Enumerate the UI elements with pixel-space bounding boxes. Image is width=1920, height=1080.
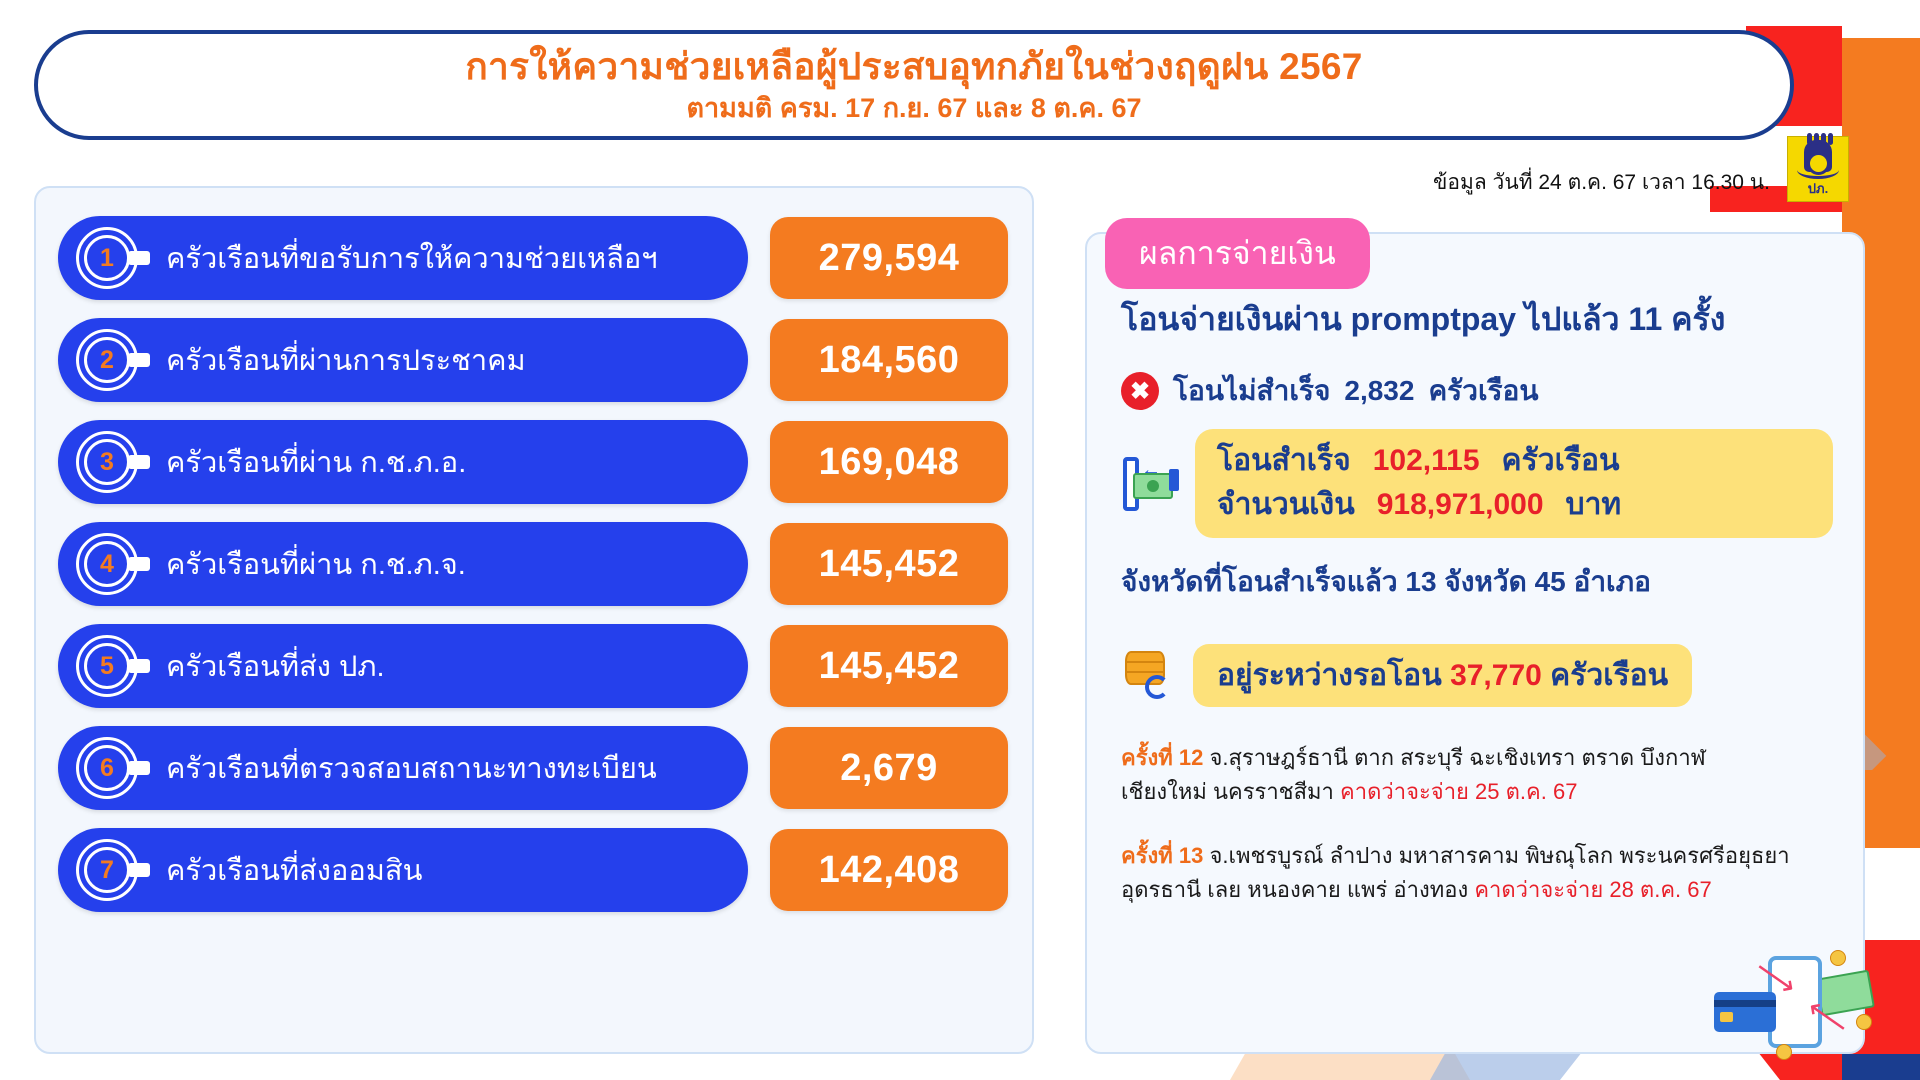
pending-value: 37,770: [1450, 659, 1542, 692]
transfer-failed-unit: ครัวเรือน: [1428, 369, 1538, 413]
row-text: ครัวเรือนที่ผ่าน ก.ช.ภ.จ.: [154, 541, 466, 587]
logo-finger: [1814, 133, 1819, 145]
step-number: 7: [84, 847, 130, 893]
step-number: 5: [84, 643, 130, 689]
promptpay-summary: โอนจ่ายเงินผ่าน promptpay ไปแล้ว 11 ครั้…: [1121, 294, 1833, 345]
table-row: 5 ครัวเรือนที่ส่ง ปภ. 145,452: [58, 622, 1010, 710]
row-value: 279,594: [770, 217, 1008, 299]
step-number-badge: 6: [76, 737, 140, 799]
logo-emblem: [1795, 139, 1841, 183]
badge-stub: [128, 251, 150, 265]
round-13-tag: ครั้งที่ 13: [1121, 843, 1203, 868]
badge-stub: [128, 353, 150, 367]
step-number-badge: 3: [76, 431, 140, 493]
round-12-tag: ครั้งที่ 12: [1121, 745, 1203, 770]
row-label-3: 3 ครัวเรือนที่ผ่าน ก.ช.ภ.อ.: [58, 420, 748, 504]
transfer-success-block: ← โอนสำเร็จ 102,115 ครัวเรือน จำนวนเงิน …: [1121, 429, 1833, 538]
cash-transfer-icon: ←: [1121, 455, 1183, 513]
logo-finger: [1821, 133, 1826, 145]
step-number: 6: [84, 745, 130, 791]
coin-icon: [1856, 1014, 1872, 1030]
badge-stub: [128, 659, 150, 673]
round-12-eta: คาดว่าจะจ่าย 25 ต.ค. 67: [1340, 779, 1577, 804]
logo-finger: [1807, 133, 1812, 145]
badge-stub: [128, 557, 150, 571]
round-13-line-2: อุดรธานี เลย หนองคาย แพร่ อ่างทอง คาดว่า…: [1121, 873, 1833, 907]
step-number-badge: 4: [76, 533, 140, 595]
row-text: ครัวเรือนที่ตรวจสอบสถานะทางทะเบียน: [154, 745, 657, 791]
coin-icon: [1776, 1044, 1792, 1060]
step-number-badge: 2: [76, 329, 140, 391]
table-row: 6 ครัวเรือนที่ตรวจสอบสถานะทางทะเบียน 2,6…: [58, 724, 1010, 812]
step-number: 3: [84, 439, 130, 485]
round-13-provinces-1: จ.เพชรบูรณ์ ลำปาง มหาสารคาม พิษณุโลก พระ…: [1210, 843, 1790, 868]
transfer-amount-row: จำนวนเงิน 918,971,000 บาท: [1217, 483, 1811, 527]
round-13-eta: คาดว่าจะจ่าย 28 ต.ค. 67: [1474, 877, 1711, 902]
row-label-4: 4 ครัวเรือนที่ผ่าน ก.ช.ภ.จ.: [58, 522, 748, 606]
household-status-panel: 1 ครัวเรือนที่ขอรับการให้ความช่วยเหลือฯ …: [34, 186, 1034, 1054]
round-12-provinces-1: จ.สุราษฎร์ธานี ตาก สระบุรี ฉะเชิงเทรา ตร…: [1210, 745, 1706, 770]
step-number-badge: 1: [76, 227, 140, 289]
badge-stub: [128, 455, 150, 469]
table-row: 4 ครัวเรือนที่ผ่าน ก.ช.ภ.จ. 145,452: [58, 520, 1010, 608]
error-x-icon: ✖: [1121, 372, 1159, 410]
pending-unit: ครัวเรือน: [1550, 659, 1668, 692]
data-timestamp: ข้อมูล วันที่ 24 ต.ค. 67 เวลา 16.30 น.: [1433, 166, 1770, 199]
row-text: ครัวเรือนที่ผ่าน ก.ช.ภ.อ.: [154, 439, 466, 485]
ddpm-logo-icon: ปภ.: [1787, 136, 1849, 202]
badge-stub: [128, 761, 150, 775]
round-12-provinces-2: เชียงใหม่ นครราชสีมา: [1121, 779, 1334, 804]
row-text: ครัวเรือนที่ส่ง ปภ.: [154, 643, 385, 689]
table-row: 2 ครัวเรือนที่ผ่านการประชาคม 184,560: [58, 316, 1010, 404]
page-subtitle: ตามมติ ครม. 17 ก.ย. 67 และ 8 ต.ค. 67: [686, 94, 1141, 124]
card-chip: [1720, 1012, 1733, 1022]
row-label-2: 2 ครัวเรือนที่ผ่านการประชาคม: [58, 318, 748, 402]
wreath-icon: [1797, 161, 1839, 179]
row-value: 145,452: [770, 523, 1008, 605]
transfer-success-card: โอนสำเร็จ 102,115 ครัวเรือน จำนวนเงิน 91…: [1195, 429, 1833, 538]
row-value: 184,560: [770, 319, 1008, 401]
transfer-amount-unit: บาท: [1566, 483, 1622, 527]
transfer-success-unit: ครัวเรือน: [1502, 439, 1620, 483]
table-row: 7 ครัวเรือนที่ส่งออมสิน 142,408: [58, 826, 1010, 914]
round-12-line-2: เชียงใหม่ นครราชสีมา คาดว่าจะจ่าย 25 ต.ค…: [1121, 775, 1833, 809]
header-card: การให้ความช่วยเหลือผู้ประสบอุทกภัยในช่วง…: [34, 30, 1794, 140]
transfer-failed-label: โอนไม่สำเร็จ: [1173, 369, 1330, 413]
table-row: 1 ครัวเรือนที่ขอรับการให้ความช่วยเหลือฯ …: [58, 214, 1010, 302]
coins-gear-icon: [1121, 649, 1179, 703]
logo-finger: [1828, 133, 1833, 145]
transfer-amount-value: 918,971,000: [1377, 483, 1544, 527]
step-number-badge: 7: [76, 839, 140, 901]
card-magstripe: [1714, 1000, 1776, 1007]
row-text: ครัวเรือนที่ส่งออมสิน: [154, 847, 422, 893]
pending-transfer-block: อยู่ระหว่างรอโอน 37,770 ครัวเรือน: [1121, 644, 1833, 707]
step-number: 2: [84, 337, 130, 383]
transfer-success-row: โอนสำเร็จ 102,115 ครัวเรือน: [1217, 439, 1811, 483]
row-label-7: 7 ครัวเรือนที่ส่งออมสิน: [58, 828, 748, 912]
page-title: การให้ความช่วยเหลือผู้ประสบอุทกภัยในช่วง…: [465, 47, 1362, 88]
transfer-success-label: โอนสำเร็จ: [1217, 439, 1351, 483]
round-13-provinces-2: อุดรธานี เลย หนองคาย แพร่ อ่างทอง: [1121, 877, 1468, 902]
row-label-5: 5 ครัวเรือนที่ส่ง ปภ.: [58, 624, 748, 708]
round-12-block: ครั้งที่ 12 จ.สุราษฎร์ธานี ตาก สระบุรี ฉ…: [1121, 741, 1833, 809]
table-row: 3 ครัวเรือนที่ผ่าน ก.ช.ภ.อ. 169,048: [58, 418, 1010, 506]
round-13-line-1: ครั้งที่ 13 จ.เพชรบูรณ์ ลำปาง มหาสารคาม …: [1121, 839, 1833, 873]
row-text: ครัวเรือนที่ขอรับการให้ความช่วยเหลือฯ: [154, 235, 658, 281]
row-value: 2,679: [770, 727, 1008, 809]
transfer-failed-value: 2,832: [1344, 375, 1414, 407]
coin-icon: [1830, 950, 1846, 966]
row-value: 169,048: [770, 421, 1008, 503]
pending-transfer-pill: อยู่ระหว่างรอโอน 37,770 ครัวเรือน: [1193, 644, 1692, 707]
row-value: 142,408: [770, 829, 1008, 911]
step-number: 1: [84, 235, 130, 281]
step-number: 4: [84, 541, 130, 587]
provinces-summary: จังหวัดที่โอนสำเร็จแล้ว 13 จังหวัด 45 อำ…: [1121, 560, 1833, 604]
step-number-badge: 5: [76, 635, 140, 697]
row-label-1: 1 ครัวเรือนที่ขอรับการให้ความช่วยเหลือฯ: [58, 216, 748, 300]
logo-label: ปภ.: [1808, 182, 1828, 195]
row-label-6: 6 ครัวเรือนที่ตรวจสอบสถานะทางทะเบียน: [58, 726, 748, 810]
badge-stub: [128, 863, 150, 877]
transfer-amount-label: จำนวนเงิน: [1217, 483, 1355, 527]
row-value: 145,452: [770, 625, 1008, 707]
transfer-success-value: 102,115: [1373, 439, 1480, 483]
payment-results-badge: ผลการจ่ายเงิน: [1105, 218, 1370, 289]
pending-label: อยู่ระหว่างรอโอน: [1217, 659, 1442, 692]
round-13-block: ครั้งที่ 13 จ.เพชรบูรณ์ ลำปาง มหาสารคาม …: [1121, 839, 1833, 907]
mobile-payment-illustration: ⟶ ⟶: [1710, 948, 1880, 1058]
transfer-failed-row: ✖ โอนไม่สำเร็จ 2,832 ครัวเรือน: [1121, 369, 1833, 413]
round-12-line-1: ครั้งที่ 12 จ.สุราษฎร์ธานี ตาก สระบุรี ฉ…: [1121, 741, 1833, 775]
row-text: ครัวเรือนที่ผ่านการประชาคม: [154, 337, 526, 383]
payment-results-panel: โอนจ่ายเงินผ่าน promptpay ไปแล้ว 11 ครั้…: [1085, 232, 1865, 1054]
